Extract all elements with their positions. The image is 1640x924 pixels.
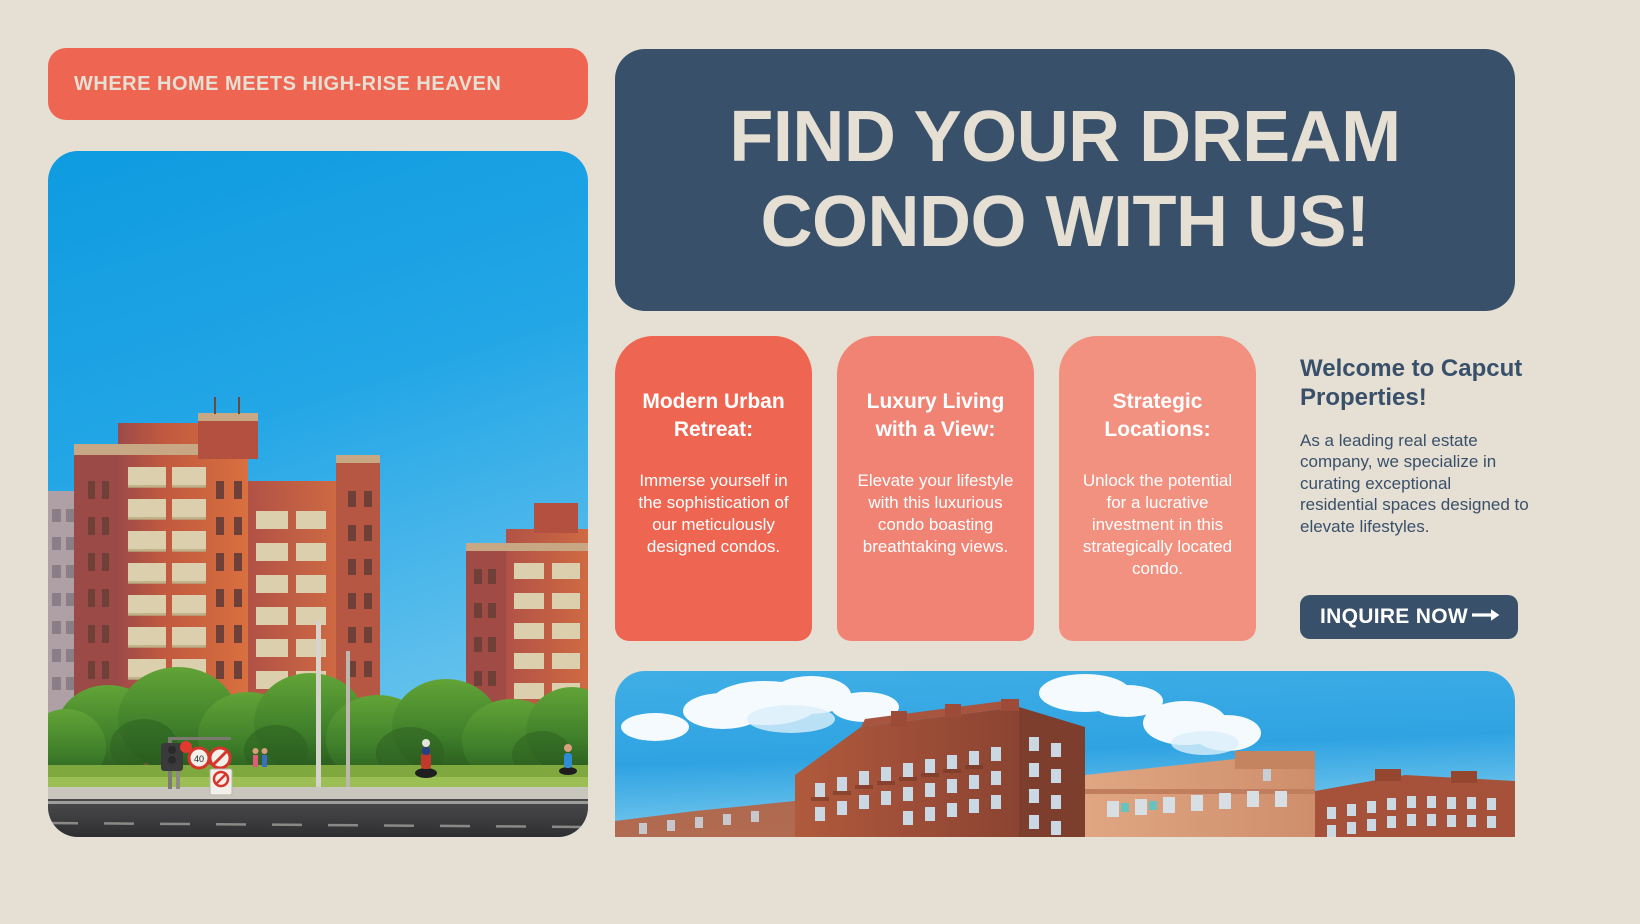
feature-card-body: Unlock the potential for a lucrative inv… bbox=[1073, 470, 1242, 580]
inquire-now-button[interactable]: INQUIRE NOW bbox=[1300, 595, 1518, 639]
welcome-body: As a leading real estate company, we spe… bbox=[1300, 430, 1530, 538]
headline-line-1: FIND YOUR DREAM bbox=[729, 95, 1400, 180]
welcome-title: Welcome to Capcut Properties! bbox=[1300, 354, 1530, 413]
feature-card-title: Modern Urban Retreat: bbox=[629, 388, 798, 444]
svg-text:40: 40 bbox=[194, 754, 204, 764]
feature-card-title: Luxury Living with a View: bbox=[851, 388, 1020, 444]
condo-skyline-photo bbox=[615, 671, 1515, 837]
tagline-banner: WHERE HOME MEETS HIGH-RISE HEAVEN bbox=[48, 48, 588, 120]
feature-card-body: Elevate your lifestyle with this luxurio… bbox=[851, 470, 1020, 558]
welcome-block: Welcome to Capcut Properties! As a leadi… bbox=[1300, 354, 1530, 537]
feature-card-luxury-living-with-a-view[interactable]: Luxury Living with a View: Elevate your … bbox=[837, 336, 1034, 641]
tagline-text: WHERE HOME MEETS HIGH-RISE HEAVEN bbox=[74, 73, 501, 96]
headline-panel: FIND YOUR DREAM CONDO WITH US! bbox=[615, 49, 1515, 311]
feature-card-title: Strategic Locations: bbox=[1073, 388, 1242, 444]
feature-card-body: Immerse yourself in the sophistication o… bbox=[629, 470, 798, 558]
headline-line-2: CONDO WITH US! bbox=[761, 180, 1370, 265]
hero-condo-photo: 40 bbox=[48, 151, 588, 837]
feature-card-modern-urban-retreat[interactable]: Modern Urban Retreat: Immerse yourself i… bbox=[615, 336, 812, 641]
feature-card-strategic-locations[interactable]: Strategic Locations: Unlock the potentia… bbox=[1059, 336, 1256, 641]
arrow-right-icon bbox=[1472, 607, 1500, 628]
condo-street-photo: 40 bbox=[48, 151, 588, 837]
feature-cards-row: Modern Urban Retreat: Immerse yourself i… bbox=[615, 336, 1285, 641]
inquire-now-label: INQUIRE NOW bbox=[1320, 605, 1468, 629]
bottom-condo-photo bbox=[615, 671, 1515, 837]
